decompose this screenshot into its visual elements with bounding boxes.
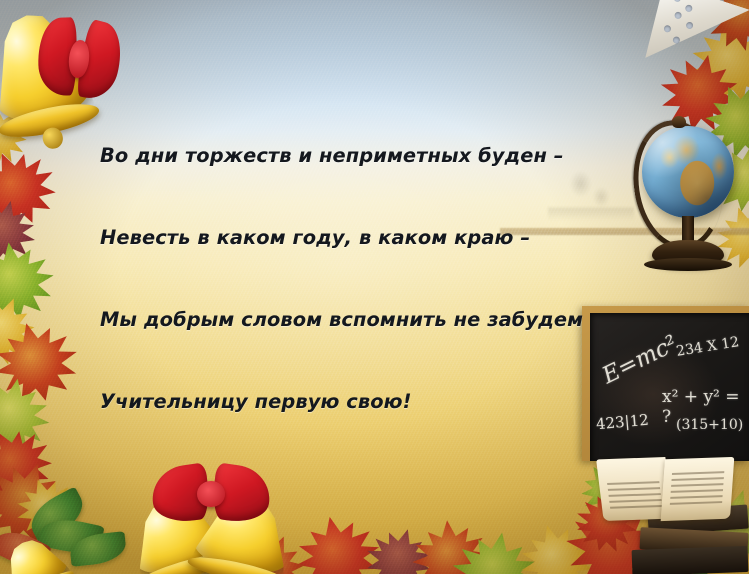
greeting-card: E=mc² 234 X 12 x² + y² = ? 423|12 (315+1…	[0, 0, 749, 574]
poem-stanza: Во дни торжеств и неприметных буден – Не…	[100, 87, 570, 471]
globe-foot	[644, 258, 732, 271]
poem-line: Учительницу первую свою!	[100, 388, 570, 415]
open-book	[600, 458, 732, 520]
bow-top-left	[34, 16, 124, 102]
bow-bottom-center	[152, 466, 270, 522]
closed-book	[632, 546, 749, 574]
book-page-right	[661, 457, 734, 521]
globe-axis-knob	[672, 116, 686, 128]
blackboard-surface: E=mc² 234 X 12 x² + y² = ? 423|12 (315+1…	[590, 313, 749, 461]
poem-line: Во дни торжеств и неприметных буден –	[100, 142, 570, 169]
chalk-formula-sum: (315+10)	[676, 417, 743, 433]
chalk-formula-emc2: E=mc²	[598, 331, 681, 389]
globe-sphere	[642, 126, 734, 218]
chalk-formula-division: 423|12	[595, 411, 649, 434]
chalk-formula-multiplication: 234 X 12	[675, 334, 740, 360]
book-stack	[596, 452, 749, 574]
blackboard: E=mc² 234 X 12 x² + y² = ? 423|12 (315+1…	[582, 306, 749, 461]
poem-line: Невесть в каком году, в каком краю –	[100, 224, 570, 251]
poem-line: Мы добрым словом вспомнить не забудем	[100, 306, 570, 333]
globe	[630, 120, 742, 295]
